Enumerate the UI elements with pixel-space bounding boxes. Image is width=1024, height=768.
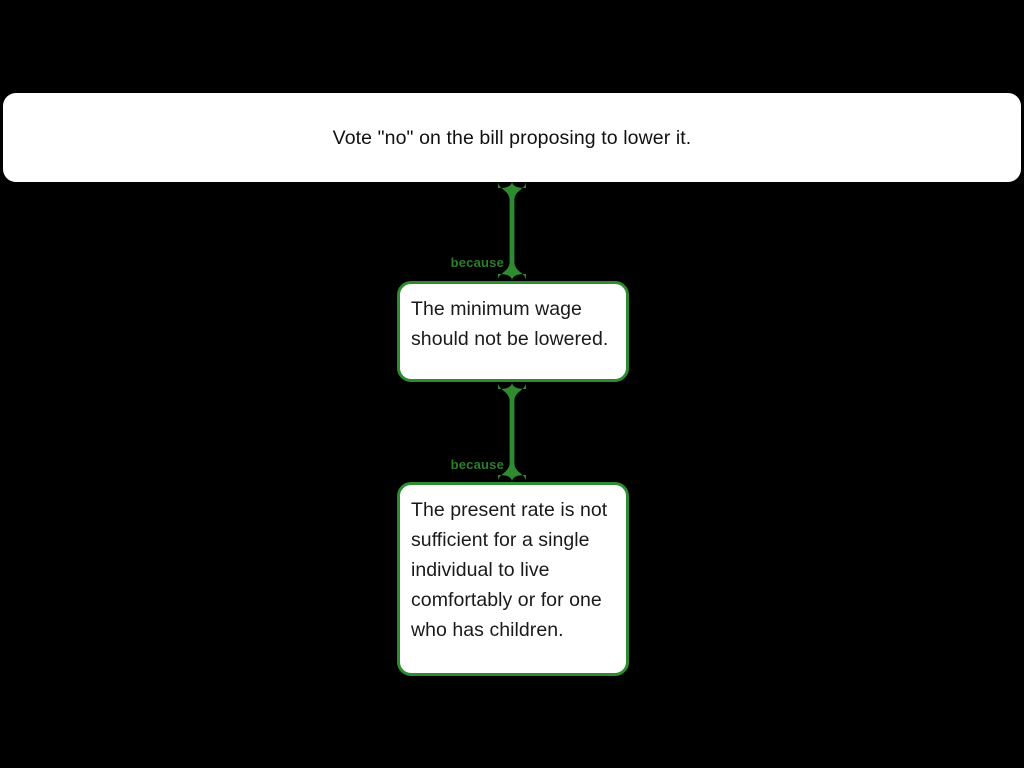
argument-node-reason-1[interactable]: The minimum wage should not be lowered. bbox=[397, 281, 629, 382]
argument-edge-label-because-1[interactable]: because bbox=[398, 255, 504, 270]
argument-node-reason-2[interactable]: The present rate is not sufficient for a… bbox=[397, 482, 629, 676]
argument-map-canvas: Vote "no" on the bill proposing to lower… bbox=[0, 0, 1024, 768]
argument-node-conclusion-text: Vote "no" on the bill proposing to lower… bbox=[333, 126, 692, 150]
argument-node-reason-1-text: The minimum wage should not be lowered. bbox=[411, 294, 616, 354]
argument-node-conclusion[interactable]: Vote "no" on the bill proposing to lower… bbox=[3, 93, 1021, 182]
argument-edge-label-because-2[interactable]: because bbox=[398, 457, 504, 472]
argument-node-reason-2-text: The present rate is not sufficient for a… bbox=[411, 495, 616, 645]
